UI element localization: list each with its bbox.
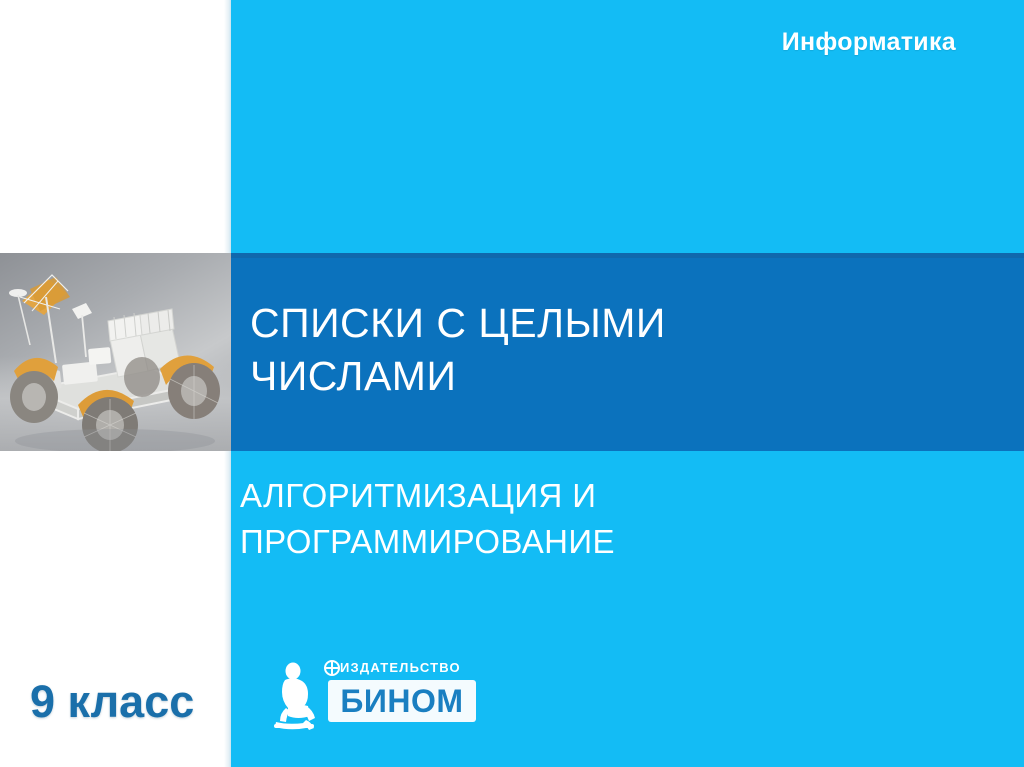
page-title-line-1: СПИСКИ С ЦЕЛЫМИ bbox=[250, 297, 810, 350]
publisher-kind-label: ИЗДАТЕЛЬСТВО bbox=[340, 658, 478, 678]
page-title-line-2: ЧИСЛАМИ bbox=[250, 350, 810, 403]
publisher-logo-text: ИЗДАТЕЛЬСТВО БИНОМ bbox=[328, 658, 478, 722]
grade-label: 9 класс bbox=[30, 676, 194, 728]
page-subtitle-line-2: ПРОГРАММИРОВАНИЕ bbox=[240, 519, 940, 565]
page-title: СПИСКИ С ЦЕЛЫМИ ЧИСЛАМИ bbox=[250, 297, 810, 404]
lunar-rover-photo bbox=[0, 253, 231, 451]
publisher-logo: ИЗДАТЕЛЬСТВО БИНОМ bbox=[266, 658, 478, 734]
lunar-rover-illustration bbox=[0, 253, 231, 451]
globe-icon bbox=[324, 660, 340, 676]
background-dark-band-top-edge bbox=[231, 253, 1024, 258]
publisher-name-box: БИНОМ bbox=[328, 680, 476, 722]
publisher-kind-text: ИЗДАТЕЛЬСТВО bbox=[340, 660, 461, 675]
page-subtitle-line-1: АЛГОРИТМИЗАЦИЯ И bbox=[240, 473, 940, 519]
presentation-slide: Информатика СПИСКИ С ЦЕЛЫМИ ЧИСЛАМИ АЛГО… bbox=[0, 0, 1024, 767]
publisher-name: БИНОМ bbox=[340, 685, 463, 717]
subject-header-label: Информатика bbox=[782, 28, 956, 57]
seated-thinker-icon bbox=[266, 662, 324, 732]
page-subtitle: АЛГОРИТМИЗАЦИЯ И ПРОГРАММИРОВАНИЕ bbox=[240, 473, 940, 564]
